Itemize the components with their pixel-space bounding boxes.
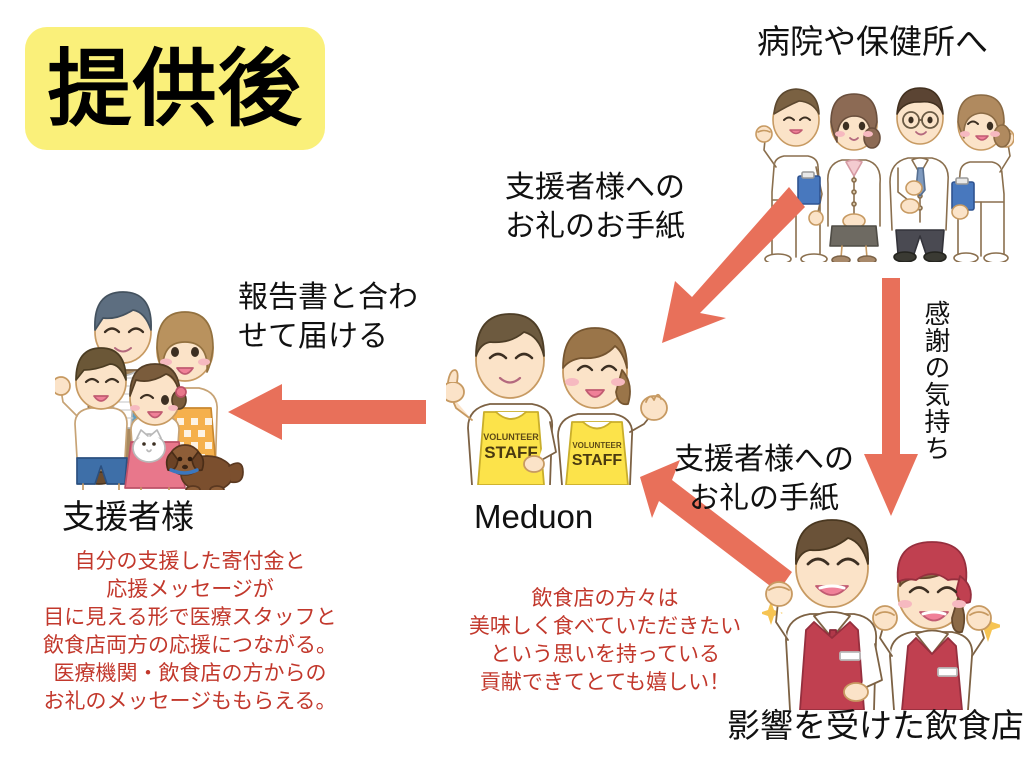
supporter-label: 支援者様 <box>62 497 194 537</box>
slide-canvas: 提供後 病院や保健所へ <box>0 0 1024 768</box>
meduon-label: Meduon <box>474 497 593 537</box>
vest-text-staff-female-line2: STAFF <box>572 452 623 469</box>
page-title: 提供後 <box>47 47 302 131</box>
arrow-label-restaurant-to-meduon: 支援者様への お礼の手紙 <box>674 440 854 518</box>
arrow-meduon-to-supporter <box>228 382 426 442</box>
volunteer-staff-pair-illustration: VOLUNTEER STAFF <box>446 300 668 485</box>
hospital-caption: 病院や保健所へ <box>757 22 988 62</box>
arrow-hospital-to-restaurant <box>860 278 922 516</box>
restaurant-note: 飲食店の方々は 美味しく食べていただきたい という思いを持っている 貢献できてと… <box>445 585 765 697</box>
vest-text-volunteer-male-line1: VOLUNTEER <box>483 432 539 442</box>
arrow-label-hospital-to-meduon: 支援者様への お礼のお手紙 <box>505 168 685 246</box>
supporter-note: 自分の支援した寄付金と 応援メッセージが 目に見える形で医療スタッフと 飲食店両… <box>10 548 370 716</box>
restaurant-staff-pair-illustration <box>762 512 1000 710</box>
restaurant-label: 影響を受けた飲食店 <box>727 706 1024 746</box>
family-illustration <box>55 278 245 490</box>
vest-text-volunteer-female-line1: VOLUNTEER <box>572 441 622 450</box>
arrow-label-meduon-to-supporter: 報告書と合わ せて届ける <box>238 278 418 356</box>
title-chip: 提供後 <box>25 27 325 150</box>
arrow-label-hospital-to-restaurant: 感謝の気持ち <box>920 300 950 462</box>
